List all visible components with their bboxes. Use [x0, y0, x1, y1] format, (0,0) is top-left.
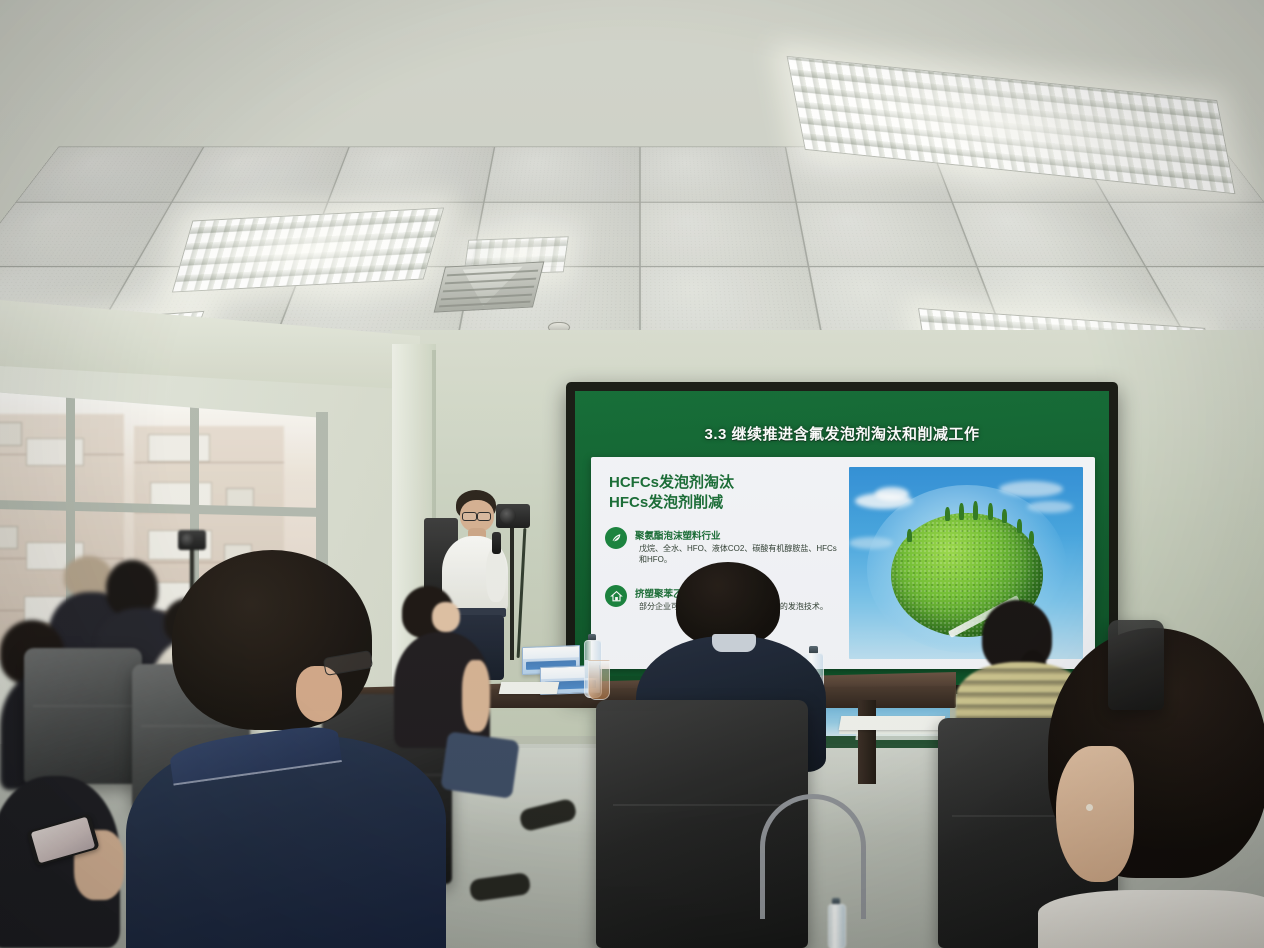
attendee-face: [1056, 746, 1134, 882]
paper-document: [839, 716, 945, 730]
chair[interactable]: [1108, 620, 1164, 710]
conference-room-scene: 3.3 继续推进含氟发泡剂淘汰和削减工作 Continue to promote…: [0, 0, 1264, 948]
attendee-foreground: [156, 550, 476, 948]
attendee-torso: [1038, 890, 1264, 948]
shirt-collar: [712, 634, 756, 652]
house-badge-icon: [605, 585, 627, 607]
glasses-icon: [477, 512, 491, 521]
microphone[interactable]: [492, 532, 501, 554]
earring: [1086, 804, 1093, 811]
attendee-hair: [172, 550, 372, 730]
table-leg: [858, 700, 876, 784]
slide-title: 3.3 继续推进含氟发泡剂淘汰和削减工作: [575, 423, 1109, 444]
paper-document: [499, 682, 560, 694]
slide-headline-line-2: HFCs发泡剂削减: [609, 493, 723, 513]
iced-coffee-cup: [588, 660, 610, 700]
glasses-icon: [462, 512, 477, 521]
air-diffuser-vent: [434, 261, 545, 312]
slide-bullet-title: 聚氨酯泡沫塑料行业: [635, 528, 721, 542]
leaf-badge-icon: [605, 527, 627, 549]
chair-armrest: [760, 794, 866, 919]
air-conditioner-unit: [0, 422, 22, 446]
fluorescent-troffer: [172, 208, 444, 293]
slide-headline-line-1: HCFCs发泡剂淘汰: [609, 473, 734, 493]
air-conditioner-unit: [0, 526, 18, 549]
